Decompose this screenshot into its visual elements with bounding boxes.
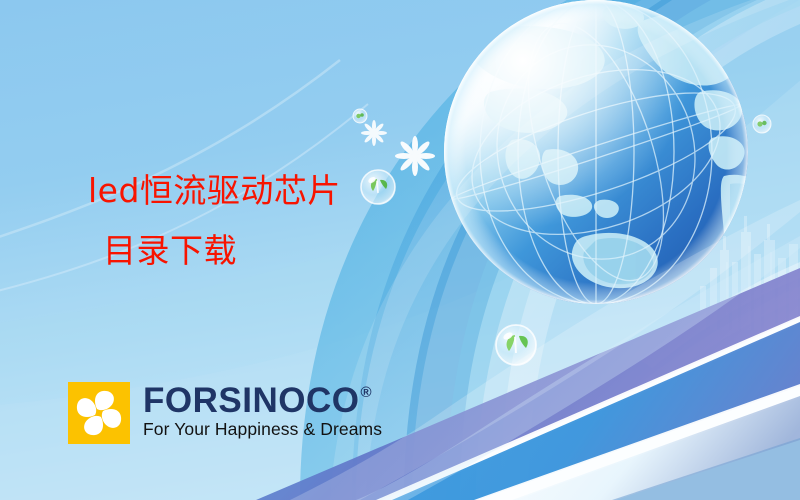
bubble-leaf-icon (353, 109, 367, 123)
logo-tagline: For Your Happiness & Dreams (143, 420, 382, 439)
starburst-flower-icon (361, 120, 387, 146)
logo-wordmark: FORSINOCO ® For Your Happiness & Dreams (143, 382, 382, 440)
registered-trademark-icon: ® (360, 385, 371, 400)
bubble-leaf-icon (753, 115, 771, 133)
starburst-flower-icon (395, 136, 435, 176)
bubble-leaf-icon (361, 170, 395, 204)
banner-image: led恒流驱动芯片 目录下载 FORSINOCO ® For Your Happ… (0, 0, 800, 500)
pinwheel-flower-glyph (68, 382, 130, 444)
pinwheel-flower-icon (68, 382, 130, 444)
company-logo: FORSINOCO ® For Your Happiness & Dreams (68, 382, 382, 444)
logo-name-row: FORSINOCO ® (143, 384, 382, 417)
logo-company-name: FORSINOCO (143, 384, 359, 417)
